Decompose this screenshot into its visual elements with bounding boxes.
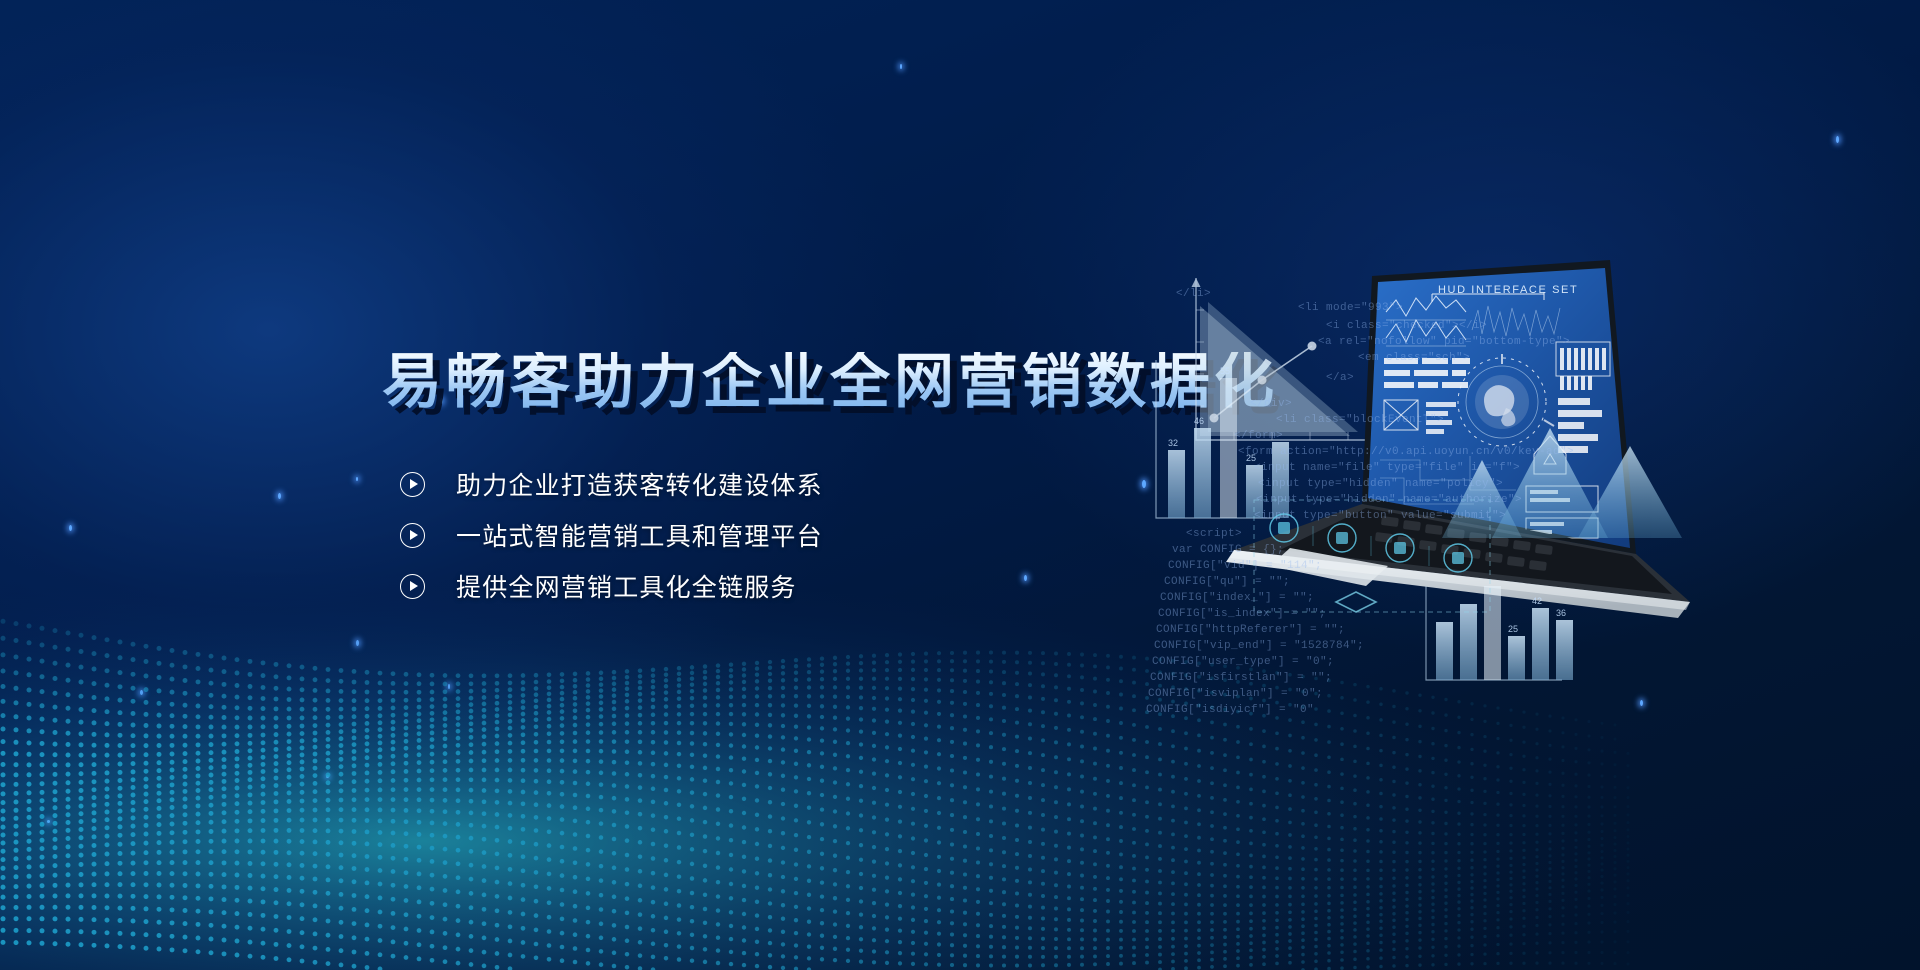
sparkle bbox=[326, 775, 329, 778]
hero-banner: 易畅客助力企业全网营销数据化 助力企业打造获客转化建设体系 一站式智能营销工具和… bbox=[0, 0, 1920, 970]
bar-value-label: 25 bbox=[1246, 453, 1256, 463]
sparkle bbox=[278, 493, 281, 499]
growth-trend-chart bbox=[1192, 278, 1381, 445]
bar-value-label: 55 bbox=[1220, 366, 1230, 376]
bar-value-label: 36 bbox=[1556, 608, 1566, 618]
list-item: 一站式智能营销工具和管理平台 bbox=[400, 515, 823, 555]
sparkle bbox=[900, 64, 902, 69]
sparkle bbox=[448, 684, 450, 689]
sparkle bbox=[140, 690, 143, 695]
list-item: 提供全网营销工具化全链服务 bbox=[400, 566, 823, 606]
feature-bullet-list: 助力企业打造获客转化建设体系 一站式智能营销工具和管理平台 提供全网营销工具化全… bbox=[400, 464, 823, 617]
hud-interface-label: HUD INTERFACE SET bbox=[1438, 284, 1578, 296]
play-circle-icon bbox=[400, 523, 425, 548]
laptop-hud-illustration: HUD INTERFACE SET 32 46 55 25 25 42 36 <… bbox=[1130, 250, 1920, 720]
sparkle bbox=[1024, 575, 1027, 581]
bar-value-label: 46 bbox=[1194, 416, 1204, 426]
list-item-label: 助力企业打造获客转化建设体系 bbox=[456, 466, 823, 502]
diamond-glow bbox=[1336, 592, 1376, 612]
play-circle-icon bbox=[400, 574, 425, 599]
play-circle-icon bbox=[400, 472, 425, 497]
illustration-graphics bbox=[1130, 250, 1920, 720]
sparkle bbox=[1836, 136, 1839, 143]
bar-value-label: 32 bbox=[1168, 438, 1178, 448]
sparkle bbox=[47, 820, 50, 823]
list-item-label: 一站式智能营销工具和管理平台 bbox=[456, 517, 823, 553]
list-item-label: 提供全网营销工具化全链服务 bbox=[456, 568, 797, 604]
sparkle bbox=[356, 640, 359, 646]
bar-value-label: 25 bbox=[1508, 624, 1518, 634]
sparkle bbox=[356, 477, 358, 481]
sparkle bbox=[69, 525, 72, 531]
list-item: 助力企业打造获客转化建设体系 bbox=[400, 464, 823, 504]
bar-value-label: 42 bbox=[1532, 596, 1542, 606]
